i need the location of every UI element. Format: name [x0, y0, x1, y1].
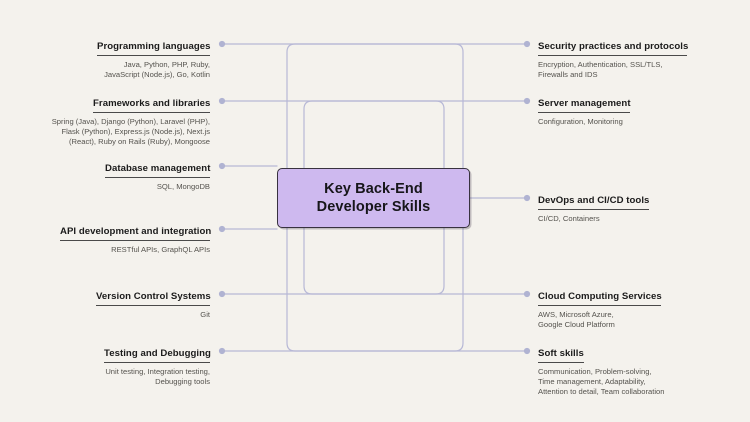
branch-title: Programming languages	[97, 41, 210, 56]
branch-testing-and-debugging[interactable]: Testing and Debugging Unit testing, Inte…	[0, 343, 210, 387]
connector-dot-left-4	[219, 226, 225, 232]
connector-left-1	[222, 44, 463, 168]
branch-items: SQL, MongoDB	[0, 182, 210, 192]
connector-dot-left-1	[219, 41, 225, 47]
connector-dot-left-5	[219, 291, 225, 297]
connector-left-5	[222, 228, 444, 294]
branch-items: Spring (Java), Django (Python), Laravel …	[0, 117, 210, 148]
branch-items: CI/CD, Containers	[538, 214, 750, 224]
connector-dot-left-2	[219, 98, 225, 104]
branch-database-management[interactable]: Database management SQL, MongoDB	[0, 158, 210, 192]
branch-items: RESTful APIs, GraphQL APIs	[0, 245, 210, 255]
branch-items: Encryption, Authentication, SSL/TLS, Fir…	[538, 60, 750, 81]
branch-title: Security practices and protocols	[538, 41, 687, 56]
connector-dot-right-3	[524, 195, 530, 201]
connector-right-4	[304, 228, 527, 294]
branch-frameworks-and-libraries[interactable]: Frameworks and libraries Spring (Java), …	[0, 93, 210, 147]
branch-version-control-systems[interactable]: Version Control Systems Git	[0, 286, 210, 320]
connector-right-5	[287, 228, 527, 351]
branch-items: Unit testing, Integration testing, Debug…	[0, 367, 210, 388]
connector-dot-left-6	[219, 348, 225, 354]
connector-right-1	[287, 44, 527, 168]
connector-dot-right-4	[524, 291, 530, 297]
branch-title: Database management	[105, 163, 210, 178]
branch-items: Git	[0, 310, 210, 320]
branch-server-management[interactable]: Server management Configuration, Monitor…	[538, 93, 750, 127]
branch-items: Java, Python, PHP, Ruby, JavaScript (Nod…	[0, 60, 210, 81]
center-node-label: Key Back-End Developer Skills	[317, 180, 431, 216]
connector-dot-right-1	[524, 41, 530, 47]
branch-title: Cloud Computing Services	[538, 291, 661, 306]
branch-title: Version Control Systems	[96, 291, 210, 306]
connector-dot-right-2	[524, 98, 530, 104]
connector-dot-right-5	[524, 348, 530, 354]
branch-title: Soft skills	[538, 348, 584, 363]
branch-items: AWS, Microsoft Azure, Google Cloud Platf…	[538, 310, 750, 331]
mindmap-canvas: Programming languages Java, Python, PHP,…	[0, 0, 750, 422]
connector-left-6	[222, 228, 463, 351]
branch-programming-languages[interactable]: Programming languages Java, Python, PHP,…	[0, 36, 210, 80]
branch-security-practices-and-protocols[interactable]: Security practices and protocols Encrypt…	[538, 36, 750, 80]
branch-title: API development and integration	[60, 226, 210, 241]
branch-title: Frameworks and libraries	[93, 98, 210, 113]
branch-devops-and-cicd-tools[interactable]: DevOps and CI/CD tools CI/CD, Containers	[538, 190, 750, 224]
branch-cloud-computing-services[interactable]: Cloud Computing Services AWS, Microsoft …	[538, 286, 750, 330]
branch-items: Communication, Problem-solving, Time man…	[538, 367, 750, 398]
branch-items: Configuration, Monitoring	[538, 117, 750, 127]
branch-title: Server management	[538, 98, 630, 113]
branch-title: DevOps and CI/CD tools	[538, 195, 649, 210]
center-node[interactable]: Key Back-End Developer Skills	[277, 168, 470, 228]
branch-soft-skills[interactable]: Soft skills Communication, Problem-solvi…	[538, 343, 750, 397]
branch-api-development-and-integration[interactable]: API development and integration RESTful …	[0, 221, 210, 255]
connector-left-2	[222, 101, 444, 168]
branch-title: Testing and Debugging	[104, 348, 210, 363]
connector-right-2	[304, 101, 527, 168]
connector-dot-left-3	[219, 163, 225, 169]
